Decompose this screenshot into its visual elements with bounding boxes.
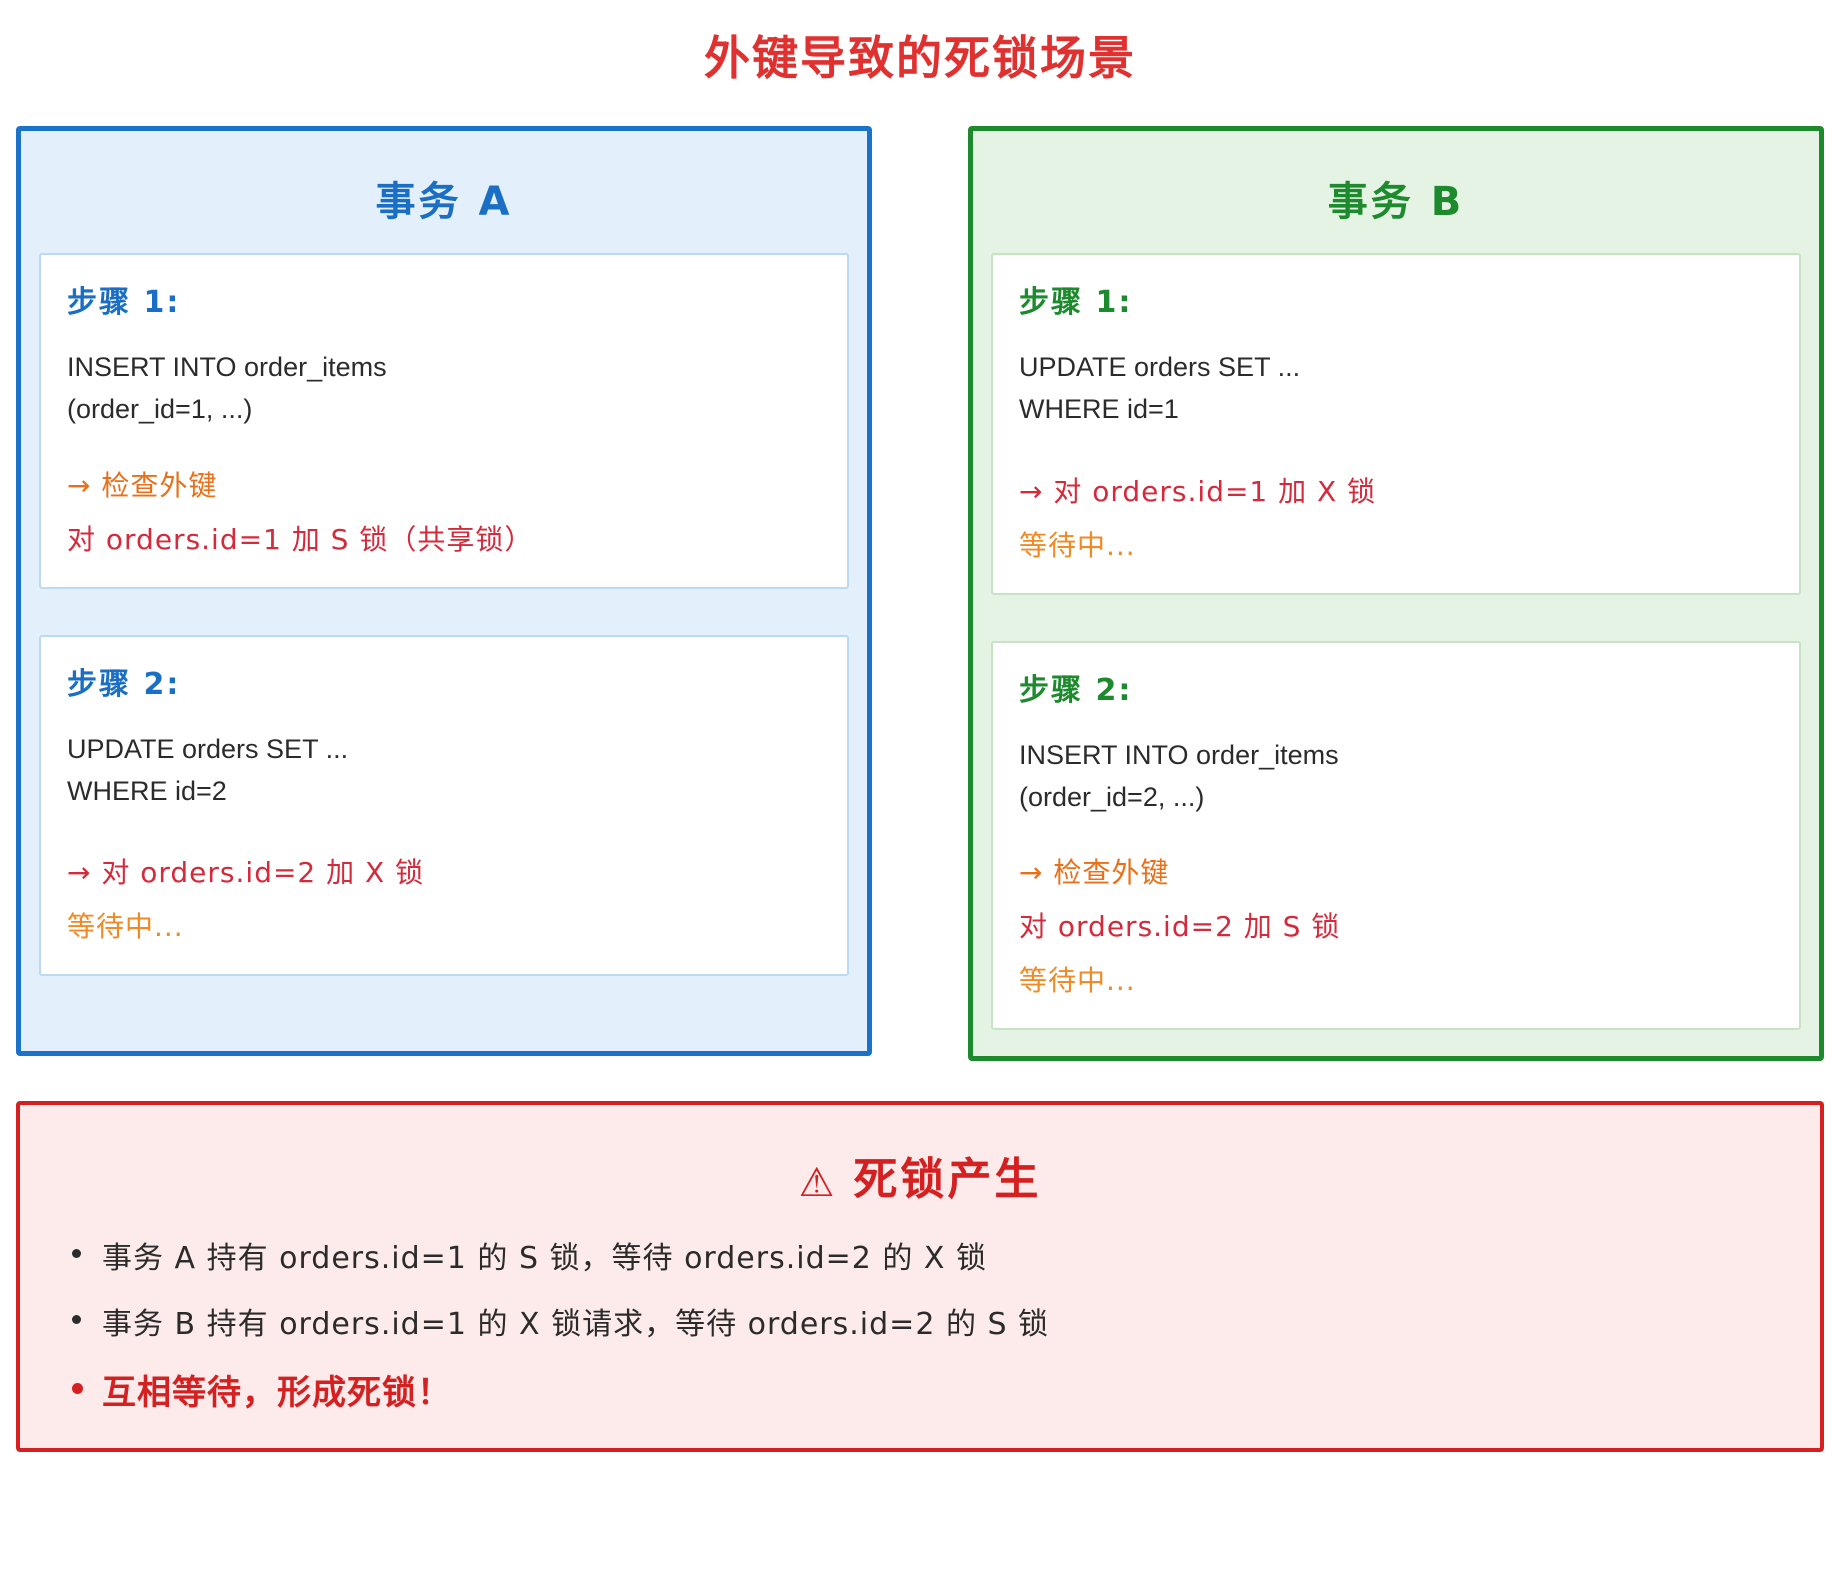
transaction-b-step-2: 步骤 2: INSERT INTO order_items (order_id=… [991,641,1801,1031]
step-label: 步骤 2: [1019,665,1773,709]
fk-check-note: → 检查外键 [67,465,821,507]
sql-line: (order_id=1, ...) [67,389,821,431]
transaction-b-step-1: 步骤 1: UPDATE orders SET ... WHERE id=1 →… [991,253,1801,595]
page-title: 外键导致的死锁场景 [0,0,1840,98]
transaction-a-heading: 事务 A [39,147,849,253]
deadlock-reason-list: 事务 A 持有 orders.id=1 的 S 锁，等待 orders.id=2… [54,1233,1786,1414]
fk-check-note: → 检查外键 [1019,852,1773,894]
waiting-status: 等待中... [1019,525,1773,567]
sql-line: INSERT INTO order_items [67,347,821,389]
sql-line: INSERT INTO order_items [1019,735,1773,777]
transaction-b-heading: 事务 B [991,147,1801,253]
sql-line: WHERE id=2 [67,771,821,813]
step-label: 步骤 1: [67,277,821,321]
transactions-row: 事务 A 步骤 1: INSERT INTO order_items (orde… [0,98,1840,1061]
list-item: 事务 B 持有 orders.id=1 的 X 锁请求，等待 orders.id… [68,1299,1786,1343]
sql-line: WHERE id=1 [1019,389,1773,431]
waiting-status: 等待中... [67,906,821,948]
waiting-status: 等待中... [1019,960,1773,1002]
diagram-page: 外键导致的死锁场景 事务 A 步骤 1: INSERT INTO order_i… [0,0,1840,1570]
sql-line: UPDATE orders SET ... [1019,347,1773,389]
transaction-a-step-2: 步骤 2: UPDATE orders SET ... WHERE id=2 →… [39,635,849,977]
lock-note: 对 orders.id=1 加 S 锁（共享锁） [67,519,821,561]
sql-line: (order_id=2, ...) [1019,777,1773,819]
spacer [1019,431,1773,459]
spacer [1019,818,1773,846]
lock-note: → 对 orders.id=2 加 X 锁 [67,852,821,894]
step-label: 步骤 1: [1019,277,1773,321]
transaction-a-panel: 事务 A 步骤 1: INSERT INTO order_items (orde… [16,126,872,1056]
deadlock-heading-text: 死锁产生 [853,1154,1041,1205]
transaction-b-panel: 事务 B 步骤 1: UPDATE orders SET ... WHERE i… [968,126,1824,1061]
warning-triangle-icon: ⚠ [799,1160,838,1206]
spacer [67,431,821,459]
list-item: 事务 A 持有 orders.id=1 的 S 锁，等待 orders.id=2… [68,1233,1786,1277]
step-label: 步骤 2: [67,659,821,703]
deadlock-conclusion: 互相等待，形成死锁！ [68,1365,1786,1414]
deadlock-heading: ⚠死锁产生 [54,1129,1786,1233]
deadlock-summary-box: ⚠死锁产生 事务 A 持有 orders.id=1 的 S 锁，等待 order… [16,1101,1824,1452]
spacer [67,812,821,840]
lock-note: 对 orders.id=2 加 S 锁 [1019,906,1773,948]
sql-line: UPDATE orders SET ... [67,729,821,771]
lock-note: → 对 orders.id=1 加 X 锁 [1019,471,1773,513]
transaction-a-step-1: 步骤 1: INSERT INTO order_items (order_id=… [39,253,849,589]
